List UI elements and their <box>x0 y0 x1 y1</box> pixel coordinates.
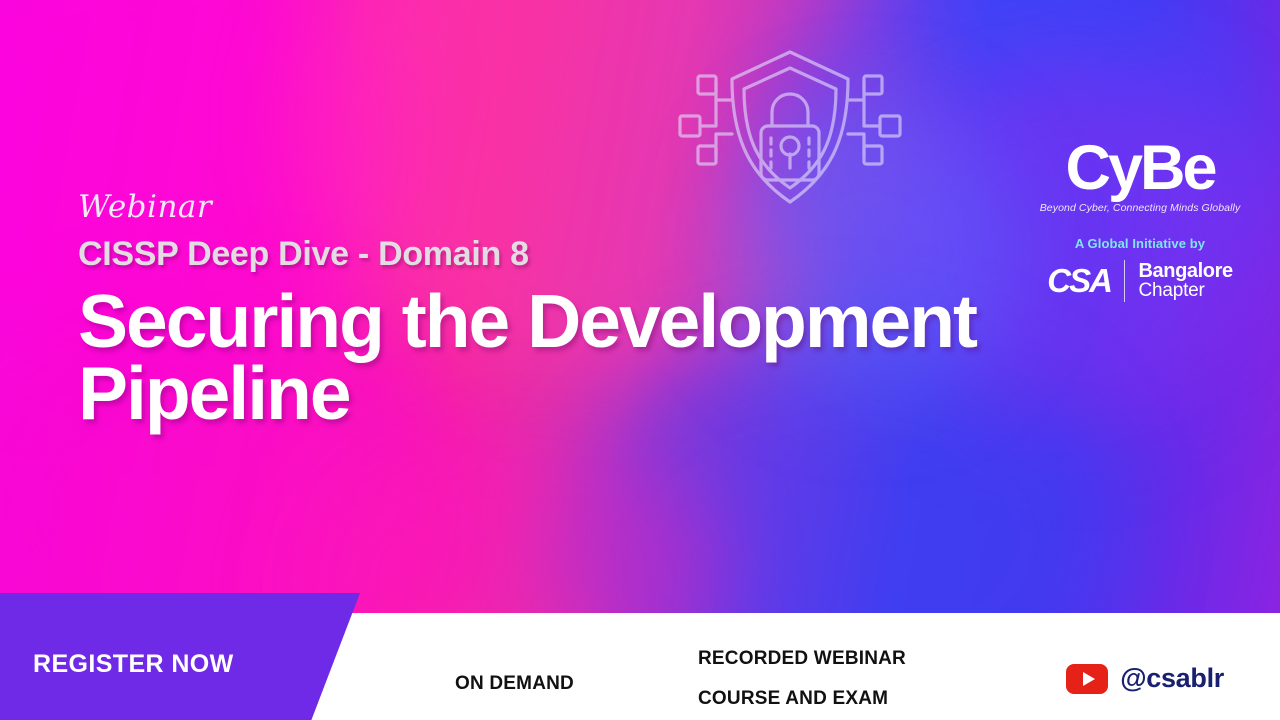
youtube-handle-label: @csablr <box>1120 663 1224 694</box>
youtube-play-icon <box>1066 664 1108 694</box>
footer-bar: REGISTER NOW ON DEMAND RECORDED WEBINAR … <box>0 613 1280 720</box>
register-now-button[interactable]: REGISTER NOW <box>0 593 360 720</box>
youtube-channel-link[interactable]: @csablr <box>1066 663 1224 694</box>
cybe-tagline: Beyond Cyber, Connecting Minds Globally <box>1030 202 1250 214</box>
chapter-word: Chapter <box>1138 281 1232 300</box>
play-triangle-icon <box>1083 672 1095 686</box>
offering-list: RECORDED WEBINAR COURSE AND EXAM <box>698 639 906 719</box>
initiative-label: A Global Initiative by <box>1030 236 1250 251</box>
recorded-webinar-label: RECORDED WEBINAR <box>698 639 906 679</box>
eyebrow-label: Webinar <box>78 192 1088 223</box>
course-and-exam-label: COURSE AND EXAM <box>698 679 906 719</box>
page-title: Securing the Development Pipeline <box>78 285 1088 429</box>
csa-logo: CSA <box>1047 262 1124 300</box>
series-subtitle: CISSP Deep Dive - Domain 8 <box>78 237 1088 273</box>
hero-copy-block: Webinar CISSP Deep Dive - Domain 8 Secur… <box>78 192 1088 429</box>
cybe-logo: CyBe <box>1030 140 1250 198</box>
brand-lockup: CyBe Beyond Cyber, Connecting Minds Glob… <box>1030 140 1250 302</box>
chapter-city: Bangalore <box>1138 261 1232 281</box>
on-demand-label: ON DEMAND <box>455 673 574 695</box>
csa-bangalore-lockup: CSA Bangalore Chapter <box>1030 260 1250 302</box>
webinar-promo-banner: Webinar CISSP Deep Dive - Domain 8 Secur… <box>0 0 1280 720</box>
register-now-label: REGISTER NOW <box>33 634 234 679</box>
hero-gradient-background: Webinar CISSP Deep Dive - Domain 8 Secur… <box>0 0 1280 613</box>
chapter-name: Bangalore Chapter <box>1125 261 1232 301</box>
